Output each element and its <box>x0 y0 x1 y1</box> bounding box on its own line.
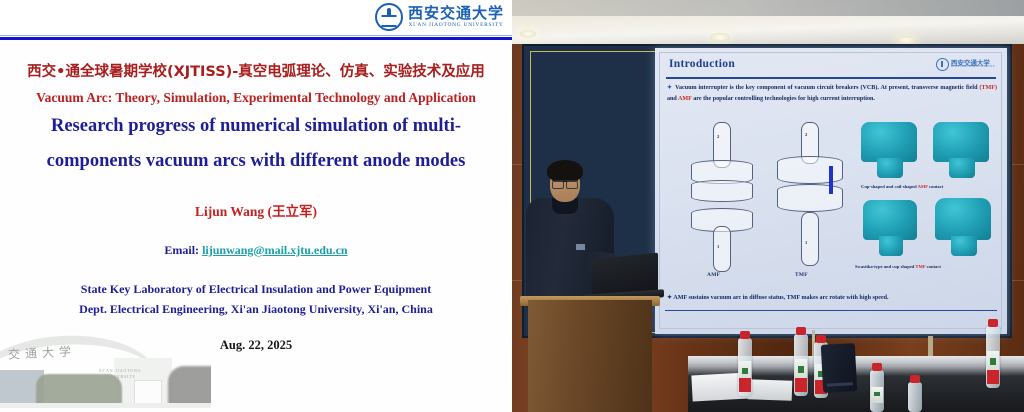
bottle-cap <box>740 331 750 339</box>
tmf-arc-marker <box>829 166 833 194</box>
author-name: Lijun Wang (王立军) <box>0 200 512 220</box>
logo-wordmark: 西安交通大学 XI'AN JIAOTONG UNIVERSITY <box>408 6 504 29</box>
coil-shaped-amf-contact <box>933 122 989 162</box>
university-emblem-icon <box>936 58 949 71</box>
presenter-hair <box>547 160 583 182</box>
cup-shaped-tmf-contact <box>935 198 991 240</box>
cup-shaped-amf-stem <box>877 158 903 178</box>
amf-mark-2: 2 <box>717 134 720 139</box>
slide-footer-rule <box>665 310 997 311</box>
amf-schematic: 2 1 AMF <box>683 122 759 282</box>
campus-baseline <box>0 403 211 408</box>
bullet1-amf: AMF <box>678 96 692 102</box>
coil-shaped-amf-stem <box>949 158 975 178</box>
bottle-cap <box>872 363 882 371</box>
ceiling-strip <box>512 0 1024 16</box>
paper-sheet <box>748 379 793 401</box>
bullet-marker-icon: ✦ <box>667 85 672 91</box>
amf-caption-pre: Cup-shaped and coil-shaped <box>861 184 918 189</box>
campus-caption-en: XI'AN JIAOTONG UNIVERSITY <box>82 368 158 380</box>
bullet1-tmf: (TMF) <box>979 85 997 91</box>
bottle-label-band <box>795 378 807 392</box>
bullet1-text-a: Vacuum interrupter is the key component … <box>675 85 979 91</box>
bottle-cap <box>988 319 998 327</box>
laptop-bag <box>821 343 857 393</box>
tmf-figure-label: TMF <box>795 272 808 278</box>
projected-slide-title: Introduction <box>669 58 735 70</box>
summer-school-line-cn: 西交•通全球暑期学校(XJTISS)-真空电弧理论、仿真、实验技术及应用 <box>0 60 512 81</box>
tmf-lower-contact <box>777 184 843 212</box>
water-bottle <box>870 370 884 412</box>
ceiling-downlight <box>520 30 536 38</box>
water-bottle <box>738 338 752 396</box>
bottle-cap <box>910 375 920 383</box>
amf-lower-rod <box>713 226 731 272</box>
ceiling <box>512 0 1024 46</box>
header-rule-thin <box>0 35 512 36</box>
cup-shaped-amf-contact <box>861 122 917 162</box>
podium <box>528 300 652 412</box>
presentation-title-line1: Research progress of numerical simulatio… <box>0 116 512 137</box>
affiliation-line1: State Key Laboratory of Electrical Insul… <box>0 282 512 297</box>
tmf-upper-contact <box>777 156 843 184</box>
tmf-caption-key: TMF <box>915 264 925 269</box>
swastika-tmf-stem <box>879 236 903 256</box>
tmf-mark-2: 2 <box>805 132 808 137</box>
amf-contact-caption: Cup-shaped and coil-shaped AMF contact <box>861 184 943 189</box>
campus-photo: 交通大学 XI'AN JIAOTONG UNIVERSITY <box>0 334 211 408</box>
projected-logo-en: XI'AN JIAOTONG UNIVERSITY <box>951 66 995 69</box>
presenter-shirt-logo <box>576 244 585 250</box>
slide-bullet-1: ✦Vacuum interrupter is the key component… <box>667 83 997 106</box>
water-bottle <box>794 334 808 396</box>
bullet1-text-b: and <box>667 96 678 102</box>
tmf-caption-pre: Swastika-type and cup shaped <box>855 264 915 269</box>
slide-header-bar: 西安交通大学 XI'AN JIAOTONG UNIVERSITY <box>0 0 512 38</box>
email-label: Email: <box>164 243 199 257</box>
bottle-label-band <box>739 378 751 392</box>
tmf-lower-rod <box>801 212 819 266</box>
email-row: Email: lijunwang@mail.xjtu.edu.cn <box>0 243 512 258</box>
amf-figure-label: AMF <box>707 272 720 278</box>
tmf-mark-1: 1 <box>805 240 808 245</box>
summer-school-line-en: Vacuum Arc: Theory, Simulation, Experime… <box>0 90 512 106</box>
campus-caption-cn: 交通大学 <box>8 342 77 363</box>
bottle-cap <box>796 327 806 335</box>
campus-trees-right <box>168 366 211 408</box>
bullet-marker-icon: ✦ <box>667 295 672 301</box>
projected-logo-wordmark: 西安交通大学 XI'AN JIAOTONG UNIVERSITY <box>951 60 995 69</box>
presenter-glasses-icon <box>552 180 578 187</box>
bottle-label <box>871 387 883 403</box>
water-bottle <box>908 382 922 412</box>
bottle-cap <box>816 335 826 343</box>
logo-name-cn: 西安交通大学 <box>408 6 504 21</box>
slide-bullet-2: ✦ AMF sustains vacuum arc in diffuse sta… <box>667 294 997 301</box>
tmf-caption-post: contact <box>925 264 940 269</box>
slide-canvas: 西安交通大学 XI'AN JIAOTONG UNIVERSITY 西交•通全球暑… <box>0 0 512 412</box>
ceiling-downlight <box>710 33 730 42</box>
screenshot-root: 西安交通大学 XI'AN JIAOTONG UNIVERSITY 西交•通全球暑… <box>0 0 1024 412</box>
logo-name-en: XI'AN JIAOTONG UNIVERSITY <box>408 23 503 29</box>
header-rule-thick <box>0 37 512 40</box>
cup-tmf-stem <box>951 236 977 256</box>
affiliation-line2: Dept. Electrical Engineering, Xi'an Jiao… <box>0 302 512 317</box>
amf-mark-1: 1 <box>717 244 720 249</box>
projected-slide-logo: 西安交通大学 XI'AN JIAOTONG UNIVERSITY <box>936 58 995 71</box>
bottle-label-band <box>987 370 999 384</box>
bullet1-text-c: are the popular controlling technologies… <box>692 96 875 102</box>
presentation-title-line2: components vacuum arcs with different an… <box>0 151 512 172</box>
amf-caption-key: AMF <box>918 184 928 189</box>
university-emblem-icon <box>375 3 403 31</box>
title-slide-panel: 西安交通大学 XI'AN JIAOTONG UNIVERSITY 西交•通全球暑… <box>0 0 512 412</box>
swastika-type-tmf-contact <box>863 200 917 240</box>
tmf-contact-caption: Swastika-type and cup shaped TMF contact <box>855 264 941 269</box>
amf-coil-top <box>691 180 753 202</box>
lecture-photo-panel: Introduction 西安交通大学 XI'AN JIAOTONG UNIVE… <box>512 0 1024 412</box>
tmf-schematic: 2 1 TMF <box>771 122 847 282</box>
amf-caption-post: contact <box>928 184 943 189</box>
xjtu-logo: 西安交通大学 XI'AN JIAOTONG UNIVERSITY <box>375 3 504 31</box>
email-link[interactable]: lijunwang@mail.xjtu.edu.cn <box>202 243 348 257</box>
slide-title-rule <box>666 77 996 79</box>
water-bottle <box>986 326 1000 388</box>
bullet2-text: AMF sustains vacuum arc in diffuse statu… <box>673 295 888 301</box>
projection-screen: Introduction 西安交通大学 XI'AN JIAOTONG UNIVE… <box>655 48 1007 334</box>
